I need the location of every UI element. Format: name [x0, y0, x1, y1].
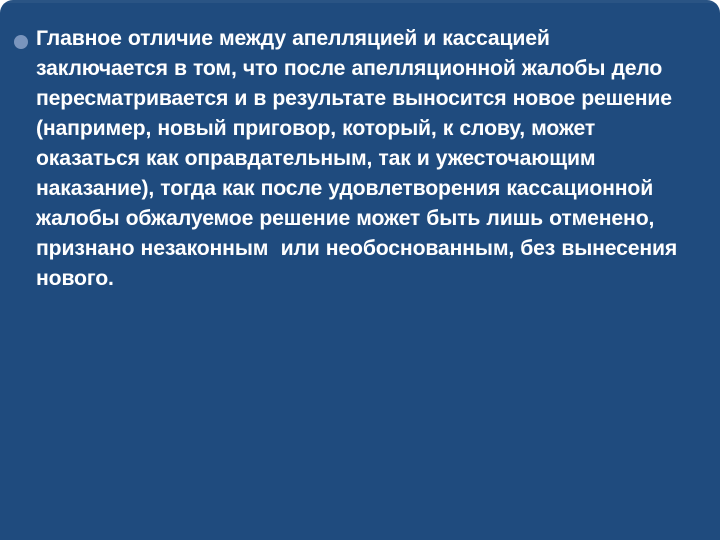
slide-canvas: Главное отличие между апелляцией и касса…	[0, 0, 720, 540]
content-placeholder: Главное отличие между апелляцией и касса…	[10, 24, 682, 294]
body-paragraph: Главное отличие между апелляцией и касса…	[36, 24, 682, 294]
filled-circle-bullet-icon	[14, 35, 28, 49]
bullet-list-item: Главное отличие между апелляцией и касса…	[10, 24, 682, 294]
